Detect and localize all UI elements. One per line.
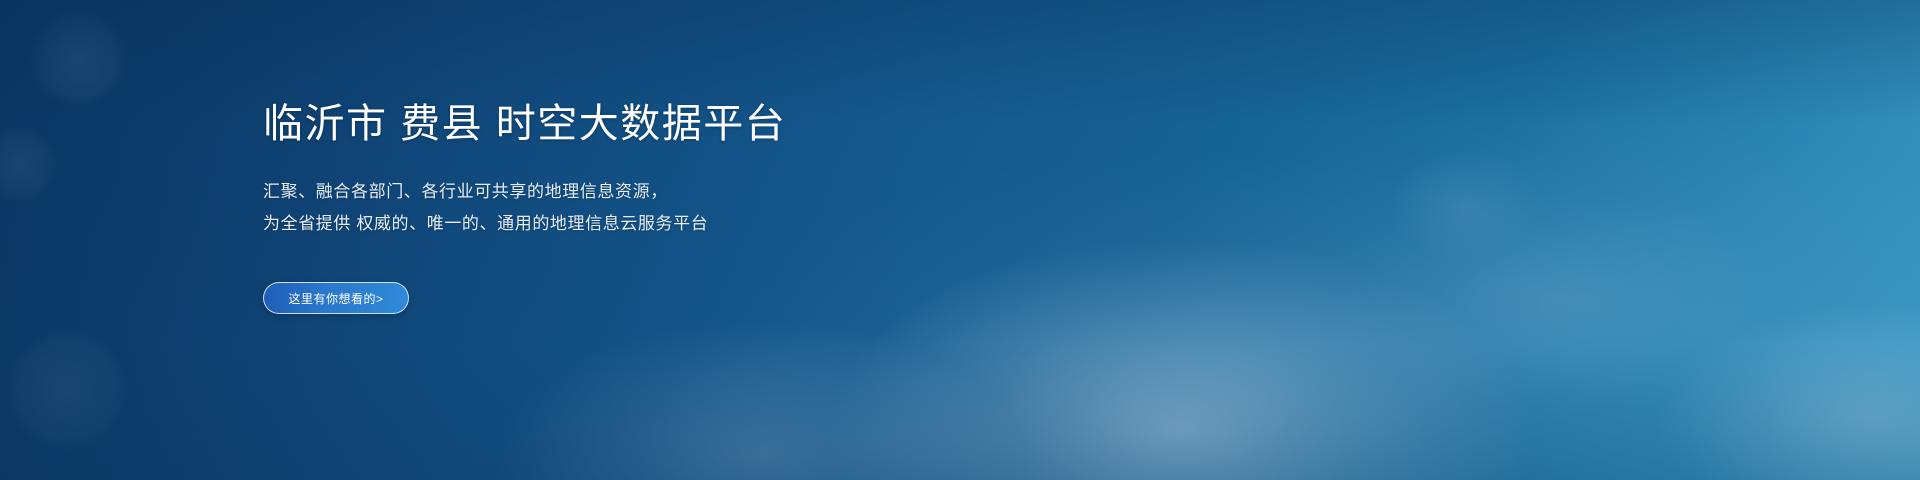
bokeh-circle-icon xyxy=(30,10,126,106)
page-title: 临沂市 费县 时空大数据平台 xyxy=(263,101,786,147)
explore-cta-button[interactable]: 这里有你想看的> xyxy=(263,282,409,314)
cloud-glow-icon xyxy=(1390,150,1540,260)
subtitle-line-1: 汇聚、融合各部门、各行业可共享的地理信息资源， xyxy=(263,176,708,208)
bokeh-circle-icon xyxy=(6,330,126,450)
subtitle-line-2: 为全省提供 权威的、唯一的、通用的地理信息云服务平台 xyxy=(263,208,708,240)
hero-subtitle: 汇聚、融合各部门、各行业可共享的地理信息资源， 为全省提供 权威的、唯一的、通用… xyxy=(263,176,708,240)
hero-content: 临沂市 费县 时空大数据平台 汇聚、融合各部门、各行业可共享的地理信息资源， 为… xyxy=(263,0,1363,480)
bokeh-circle-icon xyxy=(0,128,56,202)
hero-banner: 临沂市 费县 时空大数据平台 汇聚、融合各部门、各行业可共享的地理信息资源， 为… xyxy=(0,0,1920,480)
